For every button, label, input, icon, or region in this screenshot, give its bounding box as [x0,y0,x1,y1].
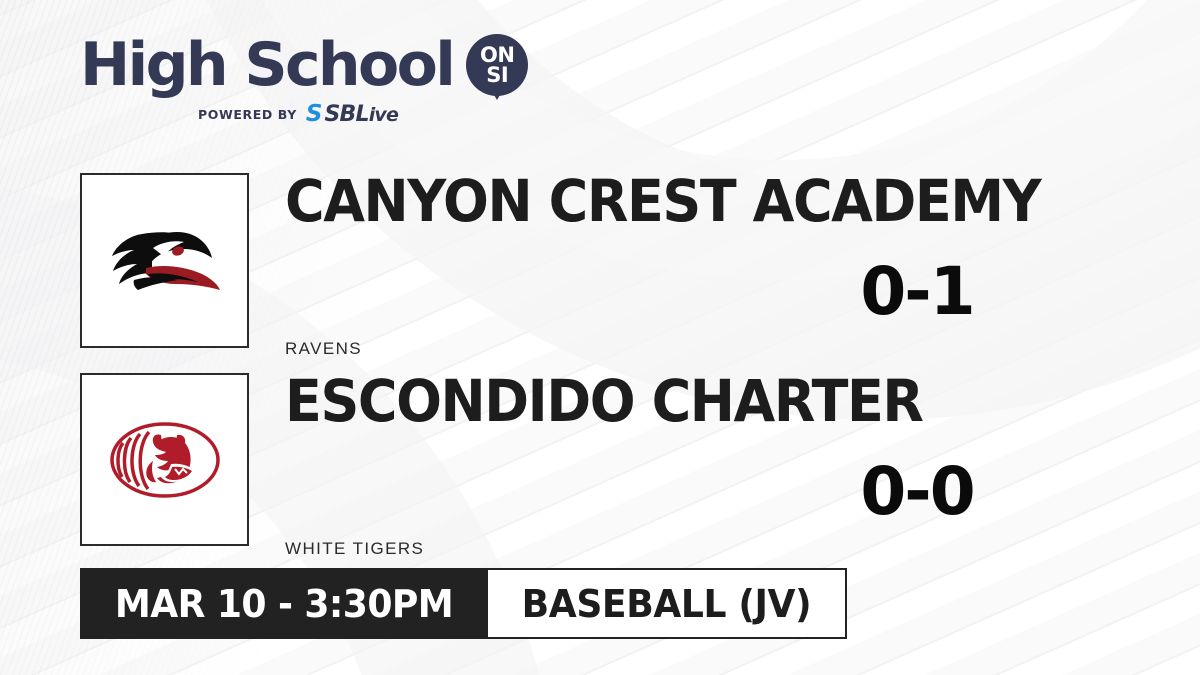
team-record-away: 0-0 [832,459,1002,525]
sblive-s-mark-icon: S [306,103,322,126]
team-mascot-home: RAVENS [285,339,362,359]
game-datetime-badge: MAR 10 - 3:30PM [80,568,488,639]
matchup-graphic: High School ON SI POWERED BY S SBLive [0,0,1200,675]
game-info-bar: MAR 10 - 3:30PM BASEBALL (JV) [80,568,847,639]
team-name-wrap-away: ESCONDIDO CHARTER [285,372,971,430]
team-name-away: ESCONDIDO CHARTER [285,372,923,430]
game-sport-label: BASEBALL (JV) [522,585,812,623]
team-name-home: CANYON CREST ACADEMY [285,172,1040,230]
powered-by-row: POWERED BY S SBLive [80,103,510,126]
game-datetime-label: MAR 10 - 3:30PM [115,585,453,623]
team-mascot-away: WHITE TIGERS [285,539,424,559]
on-si-location-pin-icon: ON SI [466,34,528,96]
tiger-head-oval-logo [80,373,249,546]
powered-by-label: POWERED BY [198,107,297,122]
pin-label-line-1: ON [480,46,514,64]
raven-head-logo-svg [106,222,224,300]
tiger-head-oval-logo-svg [109,421,221,499]
page-title: High School [80,36,453,95]
team-record-home: 0-1 [832,259,1002,325]
pin-label: ON SI [466,34,528,96]
pin-label-line-2: SI [486,66,508,84]
game-sport-badge: BASEBALL (JV) [488,568,847,639]
brand-masthead: High School ON SI POWERED BY S SBLive [80,34,510,126]
wordmark-row: High School ON SI [80,34,510,96]
sblive-logo: S SBLive [306,103,398,126]
sblive-wordmark: SBLive [324,104,398,126]
raven-head-logo [80,173,249,348]
team-name-wrap-home: CANYON CREST ACADEMY [285,172,1097,230]
